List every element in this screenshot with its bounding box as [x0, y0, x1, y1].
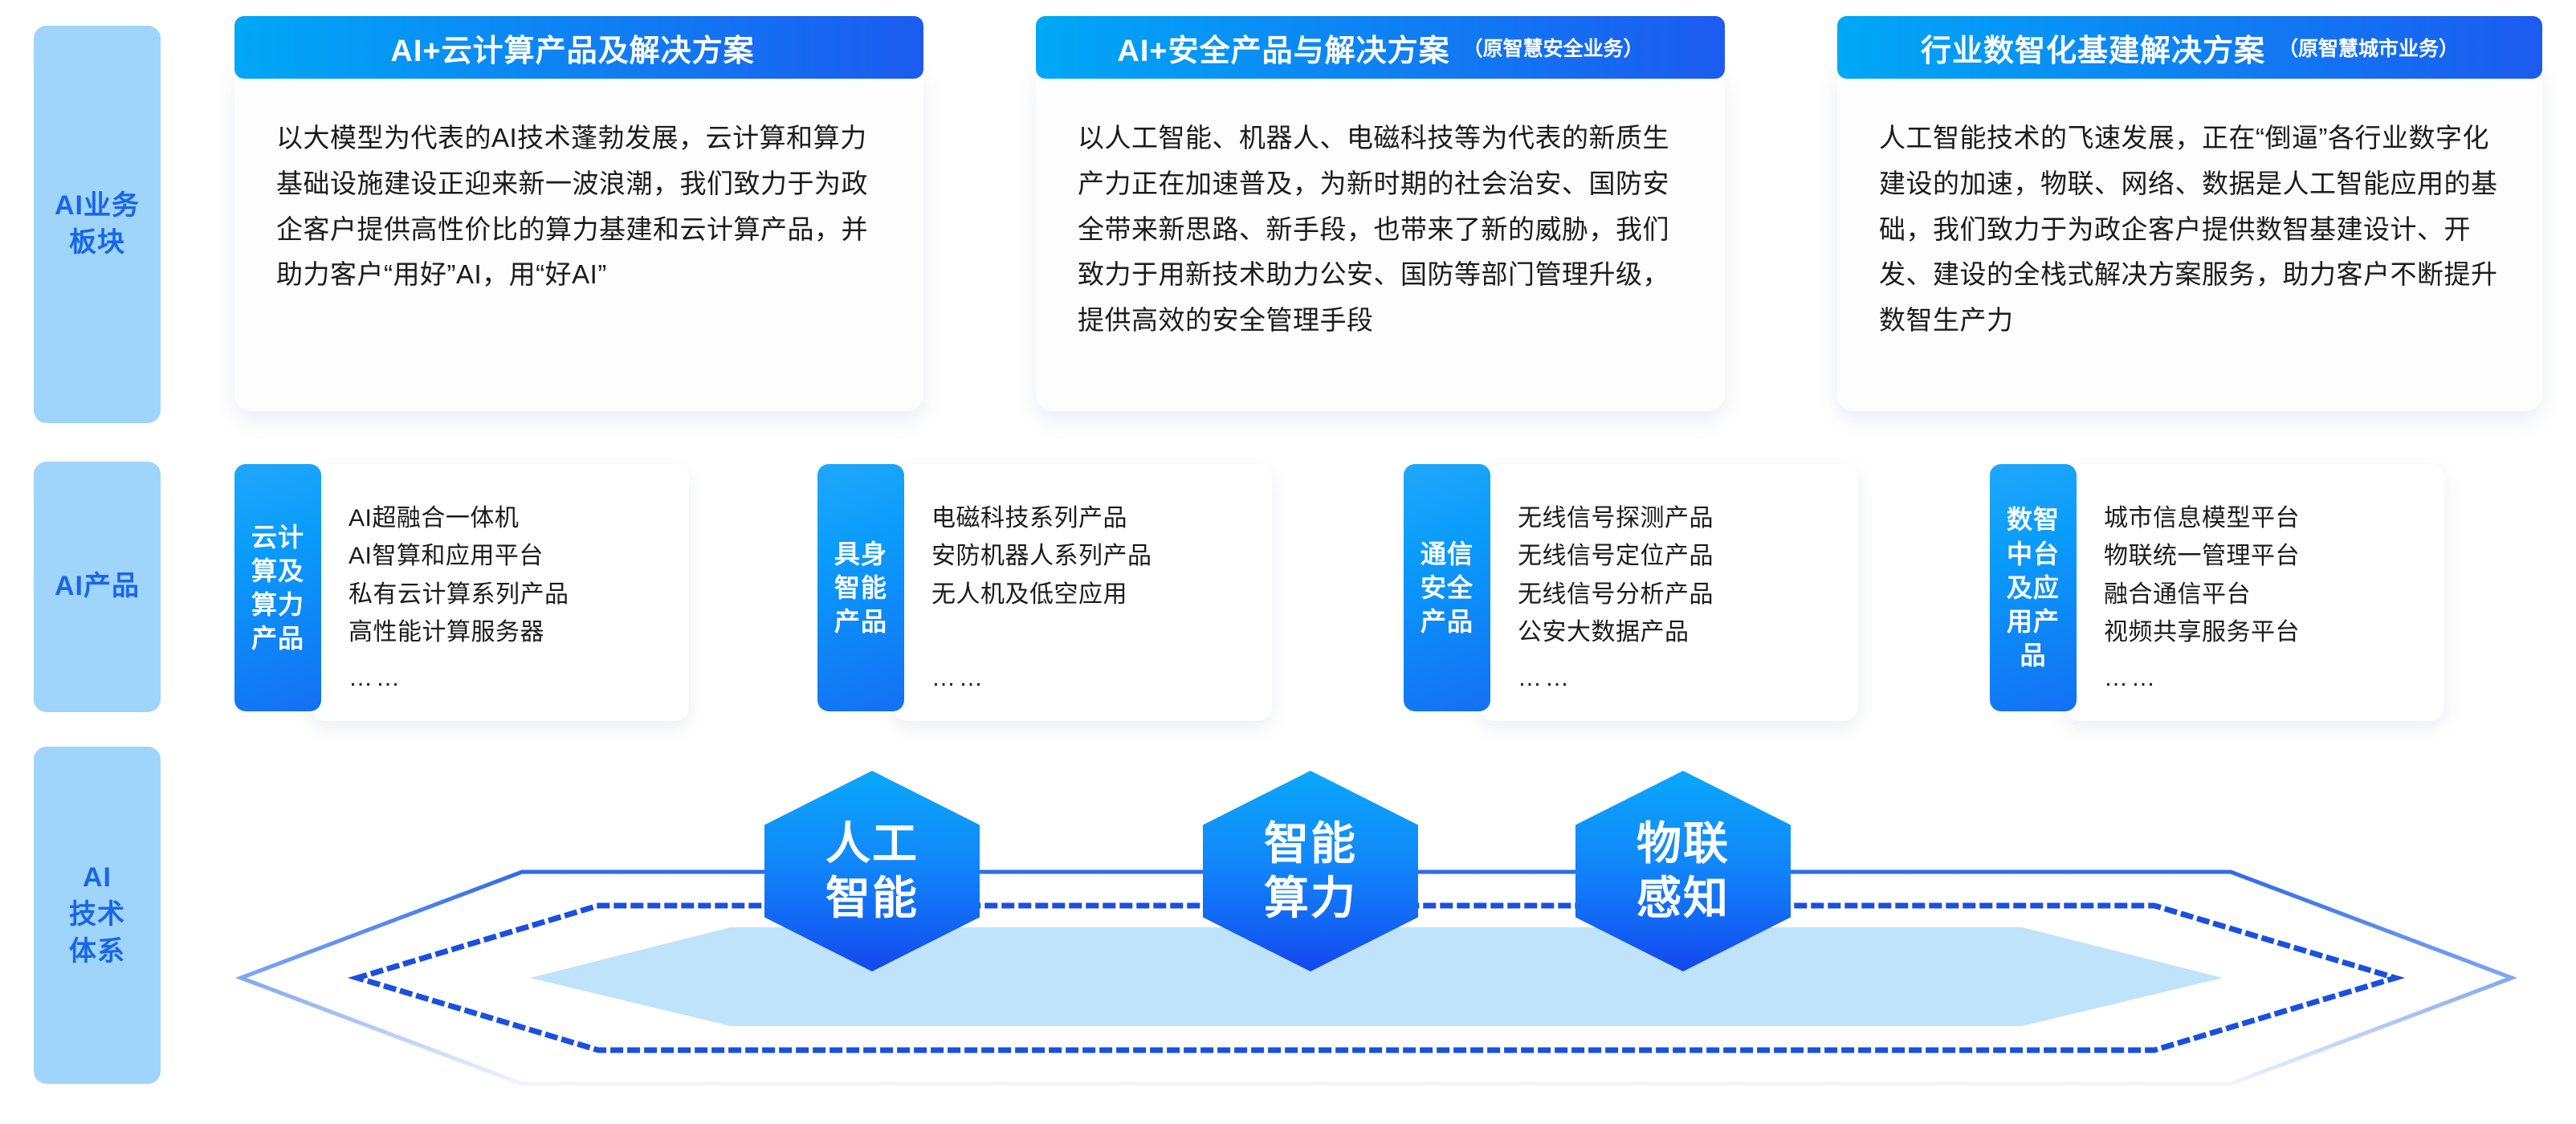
product-list-item: 公安大数据产品: [1518, 613, 1831, 651]
business-card-description: 人工智能技术的飞速发展，正在“倒逼”各行业数字化建设的加速，物联、网络、数据是人…: [1879, 116, 2501, 344]
product-group: 数智中台及应用产品 城市信息模型平台 物联统一管理平台 融合通信平台 视频共享服…: [1990, 464, 2444, 721]
product-list: 城市信息模型平台 物联统一管理平台 融合通信平台 视频共享服务平台 ……: [2065, 464, 2444, 721]
business-card-title: AI+云计算产品及解决方案: [390, 26, 754, 70]
product-group-tab: 具身智能产品: [817, 464, 904, 711]
product-list-ellipsis: ……: [2104, 665, 2417, 697]
product-list-ellipsis: ……: [931, 665, 1245, 697]
business-card-header: AI+云计算产品及解决方案: [234, 16, 923, 79]
product-list: AI超融合一体机 AI智算和应用平台 私有云计算系列产品 高性能计算服务器 ……: [310, 464, 689, 721]
product-list-item: 视频共享服务平台: [2104, 613, 2417, 651]
product-list-item: 无线信号定位产品: [1518, 537, 1831, 575]
business-card-body: 人工智能技术的飞速发展，正在“倒逼”各行业数字化建设的加速，物联、网络、数据是人…: [1837, 66, 2542, 411]
product-list-item: AI智算和应用平台: [348, 537, 662, 575]
business-card-body: 以人工智能、机器人、电磁科技等为代表的新质生产力正在加速普及，为新时期的社会治安…: [1036, 66, 1725, 411]
business-card-description: 以大模型为代表的AI技术蓬勃发展，云计算和算力基础设施建设正迎来新一波浪潮，我们…: [276, 116, 882, 298]
product-list-item: 高性能计算服务器: [348, 613, 662, 651]
product-list-ellipsis: ……: [348, 665, 662, 697]
rail-label-ai-product: AI产品: [34, 462, 161, 712]
product-list-item: 融合通信平台: [2104, 576, 2417, 613]
business-card-body: 以大模型为代表的AI技术蓬勃发展，云计算和算力基础设施建设正迎来新一波浪潮，我们…: [234, 66, 923, 411]
business-card-title: AI+安全产品与解决方案: [1117, 26, 1449, 70]
product-list-item: AI超融合一体机: [348, 499, 662, 537]
hexagon-fill-inner: [530, 927, 2223, 1026]
product-group: 云计算及算力产品 AI超融合一体机 AI智算和应用平台 私有云计算系列产品 高性…: [234, 464, 689, 721]
business-card: AI+云计算产品及解决方案 以大模型为代表的AI技术蓬勃发展，云计算和算力基础设…: [234, 16, 923, 411]
product-list-item: 城市信息模型平台: [2104, 499, 2417, 537]
product-list-item: 无线信号探测产品: [1518, 499, 1831, 537]
business-card: AI+安全产品与解决方案 （原智慧安全业务） 以人工智能、机器人、电磁科技等为代…: [1036, 16, 1725, 411]
business-card: 行业数智化基建解决方案 （原智慧城市业务） 人工智能技术的飞速发展，正在“倒逼”…: [1837, 16, 2542, 411]
business-card-subtitle: （原智慧城市业务）: [2278, 33, 2459, 62]
product-list-item: 安防机器人系列产品: [931, 537, 1245, 575]
product-list: 电磁科技系列产品 安防机器人系列产品 无人机及低空应用 ……: [893, 464, 1272, 721]
business-card-title: 行业数智化基建解决方案: [1921, 26, 2265, 70]
product-list-item: 无人机及低空应用: [931, 576, 1245, 613]
product-list-item: 电磁科技系列产品: [931, 499, 1245, 537]
business-card-header: AI+安全产品与解决方案 （原智慧安全业务）: [1036, 16, 1725, 79]
product-group: 通信安全产品 无线信号探测产品 无线信号定位产品 无线信号分析产品 公安大数据产…: [1404, 464, 1858, 721]
product-list-ellipsis: ……: [1518, 665, 1831, 697]
product-group-tab: 数智中台及应用产品: [1990, 464, 2077, 711]
product-group: 具身智能产品 电磁科技系列产品 安防机器人系列产品 无人机及低空应用 ……: [817, 464, 1272, 721]
rail-label-ai-tech: AI技术体系: [34, 747, 161, 1084]
business-card-subtitle: （原智慧安全业务）: [1463, 33, 1644, 62]
product-group-tab: 通信安全产品: [1404, 464, 1490, 711]
rail-label-ai-business: AI业务板块: [34, 26, 161, 423]
product-list: 无线信号探测产品 无线信号定位产品 无线信号分析产品 公安大数据产品 ……: [1479, 464, 1858, 721]
business-card-description: 以人工智能、机器人、电磁科技等为代表的新质生产力正在加速普及，为新时期的社会治安…: [1078, 116, 1683, 344]
business-card-header: 行业数智化基建解决方案 （原智慧城市业务）: [1837, 16, 2542, 79]
product-group-tab: 云计算及算力产品: [234, 464, 321, 711]
product-list-item: 私有云计算系列产品: [348, 576, 662, 613]
product-list-item: 物联统一管理平台: [2104, 537, 2417, 575]
product-list-item: 无线信号分析产品: [1518, 576, 1831, 613]
